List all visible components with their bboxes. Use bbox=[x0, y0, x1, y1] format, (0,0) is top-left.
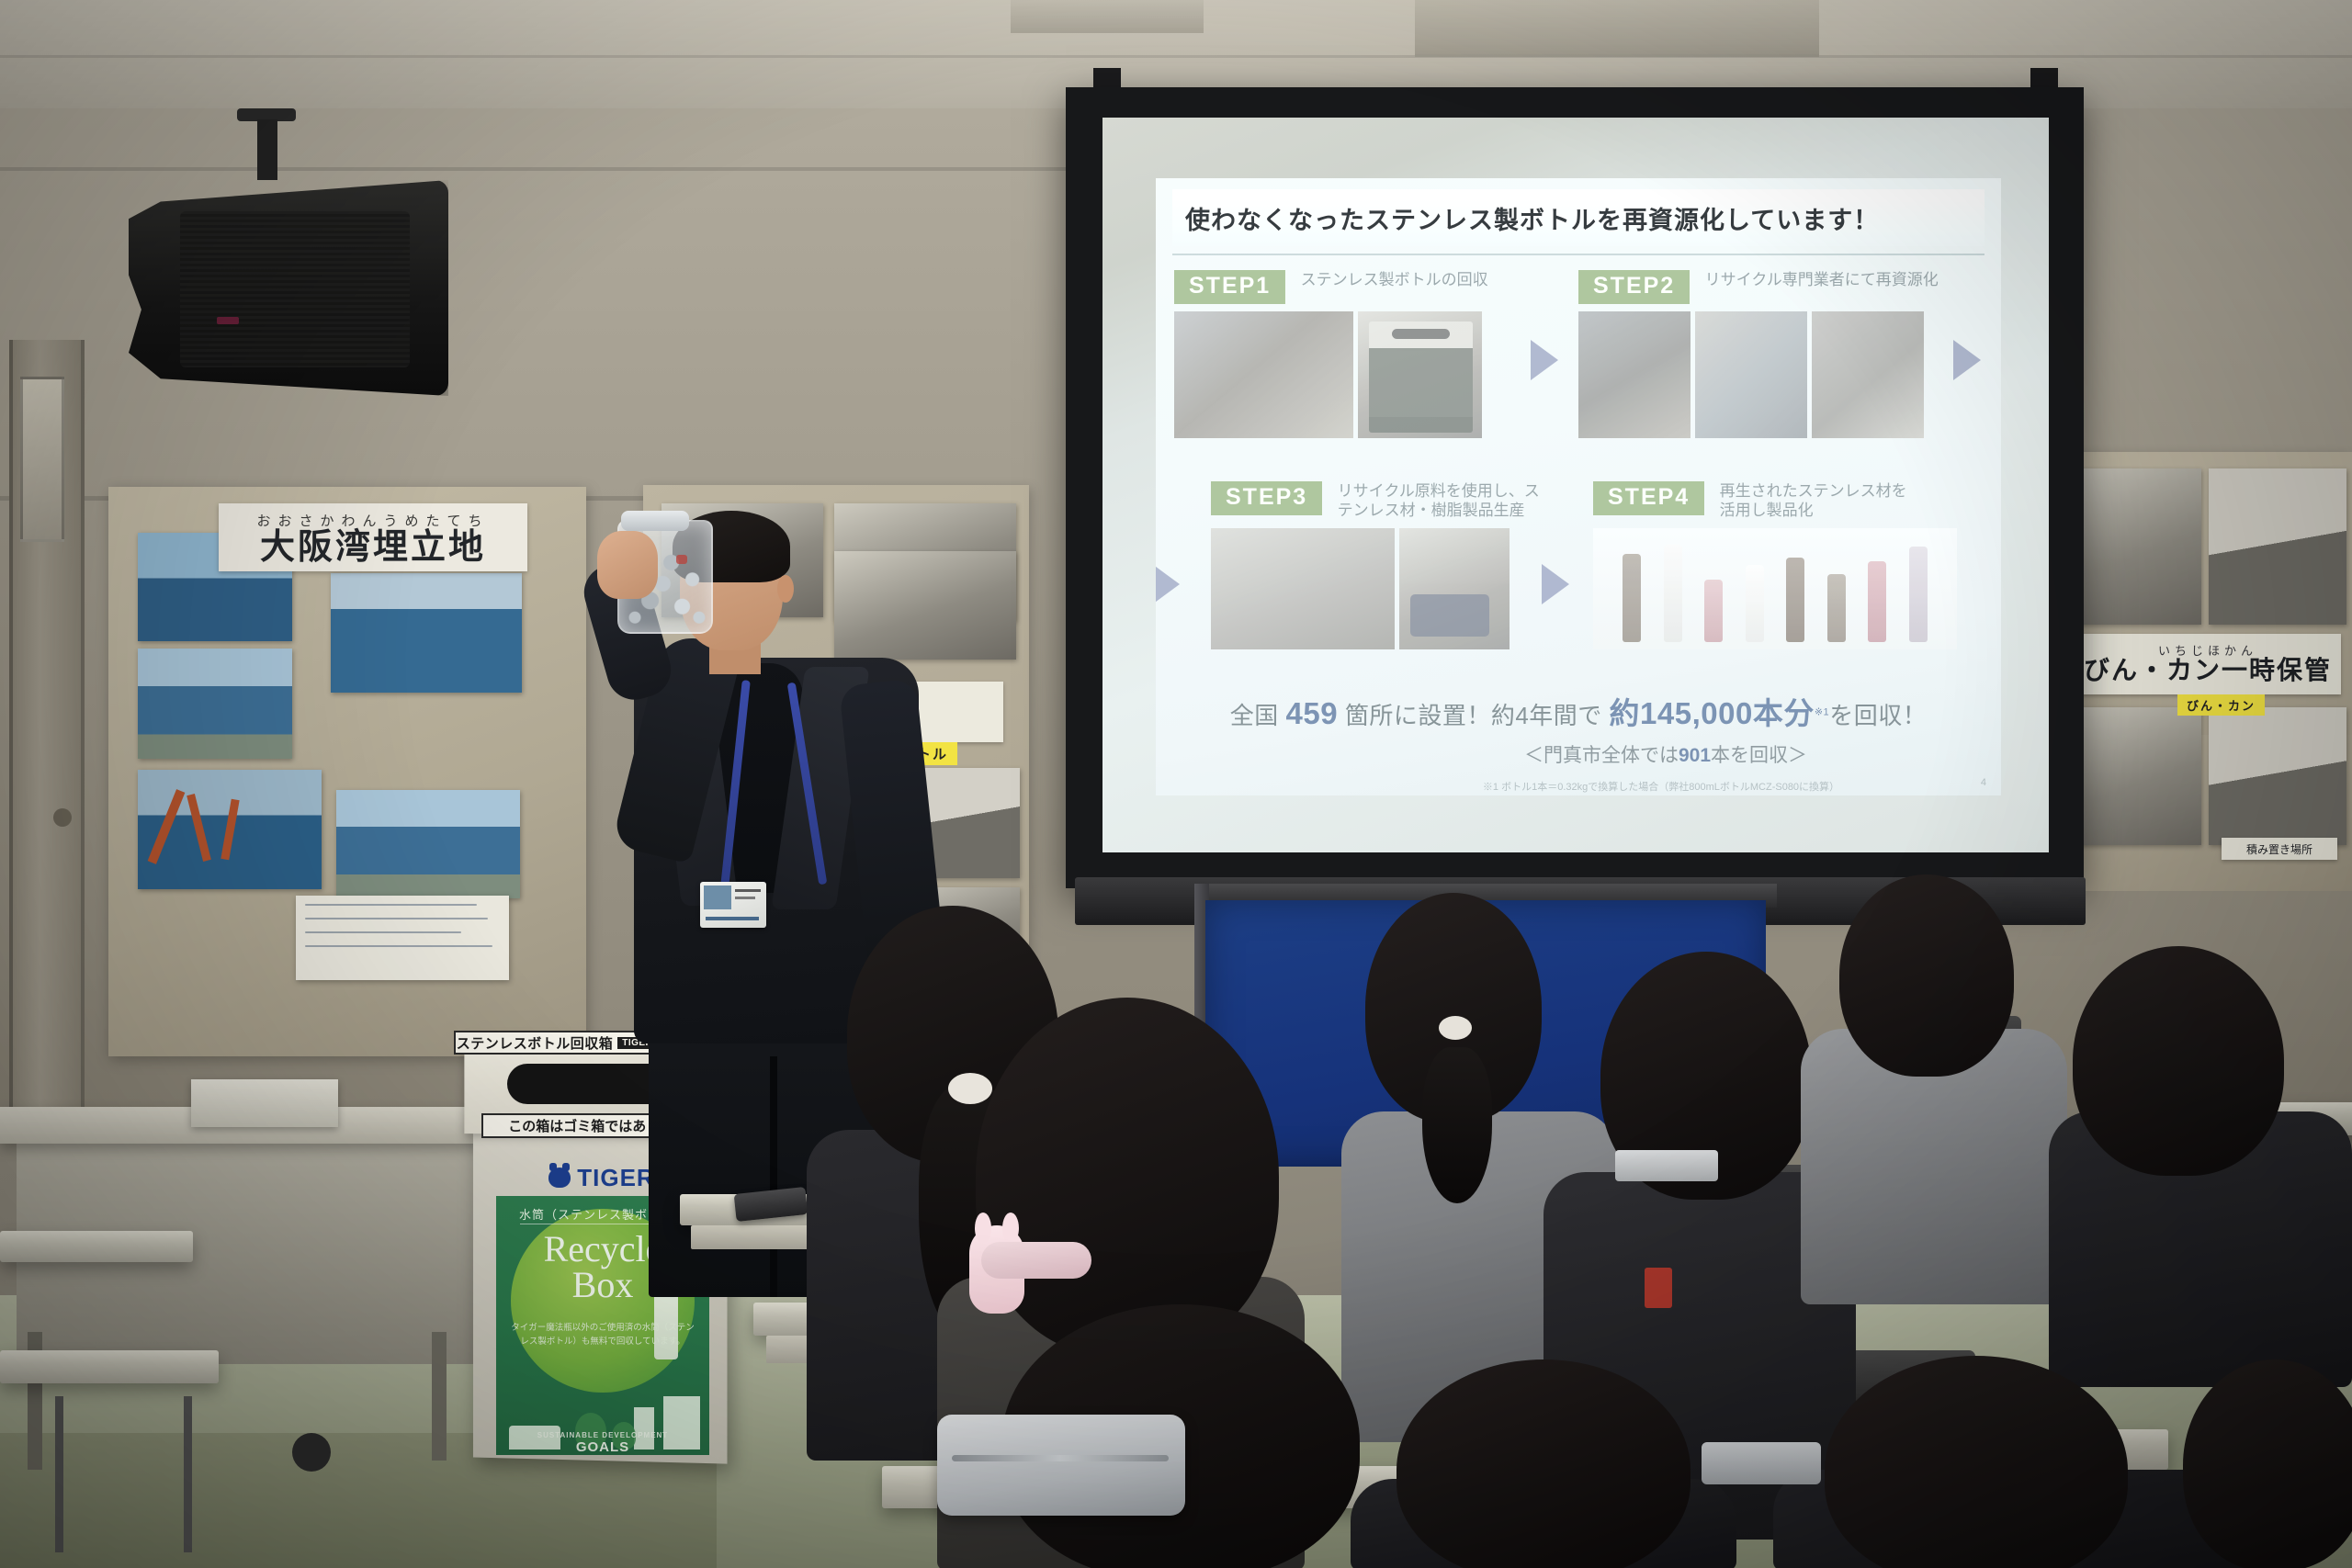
right-photo-truck bbox=[2209, 468, 2346, 625]
step1-badge: STEP1 bbox=[1174, 270, 1285, 304]
plush-ear-left bbox=[975, 1213, 991, 1244]
right-photo-3 bbox=[2209, 707, 2346, 845]
footer-superscript: ※1 bbox=[1815, 706, 1829, 717]
step2-photo-a bbox=[1578, 311, 1690, 438]
poster-main-title: 大阪湾埋立地 bbox=[260, 530, 486, 565]
step1-photos bbox=[1174, 311, 1532, 438]
footer-lead: 全国 bbox=[1230, 702, 1279, 729]
step3-product-block bbox=[1410, 594, 1489, 637]
classroom-scene: おおさかわんうめたてち 大阪湾埋立地 ペットボトル いちじほかん ー時保管 ペッ… bbox=[0, 0, 2352, 1568]
flow-arrow-3 bbox=[1156, 564, 1180, 604]
subline-post: 本を回収＞ bbox=[1711, 745, 1807, 766]
stainless-shred-red-accent bbox=[676, 555, 687, 564]
right-caption-strip: 積み置き場所 bbox=[2222, 838, 2337, 860]
slide-title: 使わなくなったステンレス製ボトルを再資源化しています！ bbox=[1185, 200, 1879, 236]
badge-bottom-bar bbox=[706, 917, 759, 920]
slide-page-number: 4 bbox=[1981, 777, 1986, 788]
speaker-grill bbox=[180, 211, 410, 367]
slide-footer: 全国 459 箇所に設置！約4年間で 約145,000本分※1を回収！ ＜門真市… bbox=[1156, 689, 2001, 794]
bottle-2 bbox=[1664, 545, 1682, 642]
poster-photo-3 bbox=[331, 573, 522, 693]
door-knob[interactable] bbox=[53, 808, 72, 827]
ceiling-vent bbox=[1415, 0, 1819, 57]
flow-arrow-1 bbox=[1531, 340, 1558, 380]
student-6-head bbox=[2073, 946, 2284, 1176]
recycle-box-top-label: ステンレスボトル回収箱 TIGER bbox=[454, 1031, 660, 1055]
side-desk-left-1 bbox=[0, 1231, 193, 1262]
bottle-7 bbox=[1868, 561, 1886, 642]
bottle-8 bbox=[1909, 547, 1928, 642]
step1-photo-a bbox=[1174, 311, 1353, 438]
step2-badge: STEP2 bbox=[1578, 270, 1690, 304]
collection-bin-slot bbox=[1392, 329, 1450, 339]
slide-step-3: STEP3 リサイクル原料を使用し、ステンレス材・樹脂製品生産 bbox=[1211, 481, 1569, 649]
flow-arrow-4 bbox=[1542, 564, 1569, 604]
step3-photo-a bbox=[1211, 528, 1395, 649]
sdgs-goals-text: GOALS bbox=[576, 1439, 629, 1455]
student-3-hair-tie bbox=[1439, 1016, 1472, 1040]
student-4-shirt-graphic bbox=[1645, 1268, 1672, 1308]
badge-text-line-2 bbox=[735, 897, 755, 899]
bottle-6 bbox=[1827, 574, 1846, 642]
laptop-device[interactable] bbox=[1615, 1150, 1718, 1181]
step2-photo-b bbox=[1695, 311, 1807, 438]
right-caption-text: 積み置き場所 bbox=[2246, 841, 2312, 857]
presenter-id-badge bbox=[700, 882, 766, 928]
slide-footnote: ※1 ボトル1本＝0.32kgで換算した場合（弊社800mLボトルMCZ-S08… bbox=[1156, 779, 2001, 794]
student-5-head bbox=[1839, 874, 2014, 1077]
presenter-left-hand bbox=[597, 531, 658, 599]
footer-approx-bottles: 約145,000本分 bbox=[1610, 696, 1815, 730]
presenter-leg-split bbox=[770, 1056, 777, 1297]
step3-badge: STEP3 bbox=[1211, 481, 1322, 515]
right-yellow-tag: びん・カン bbox=[2177, 694, 2265, 716]
step3-photos bbox=[1211, 528, 1569, 649]
step4-photos bbox=[1593, 528, 1988, 649]
step3-caption: リサイクル原料を使用し、ステンレス材・樹脂製品生産 bbox=[1338, 481, 1555, 521]
sample-jar-lid bbox=[621, 511, 689, 531]
subline-number: 901 bbox=[1679, 745, 1711, 766]
right-label-furigana: いちじほかん bbox=[2158, 645, 2257, 657]
door-window bbox=[20, 377, 64, 542]
subline-pre: ＜門真市全体では bbox=[1524, 745, 1679, 766]
chair-leg-1 bbox=[55, 1396, 63, 1552]
poster-note-card bbox=[296, 896, 509, 980]
note-line bbox=[305, 945, 492, 947]
step4-product-photo bbox=[1593, 528, 1957, 649]
step4-caption: 再生されたステンレス材を活用し製品化 bbox=[1720, 481, 1913, 521]
student-10-head bbox=[2183, 1359, 2352, 1568]
speaker-led-indicator bbox=[217, 317, 239, 324]
slide-title-rule bbox=[1172, 254, 1984, 255]
tiger-brand-text: TIGER bbox=[577, 1164, 654, 1192]
note-line bbox=[305, 904, 477, 906]
footer-mid: 箇所に設置！約4年間で bbox=[1345, 702, 1602, 729]
note-line bbox=[305, 918, 488, 919]
flow-arrow-2 bbox=[1953, 340, 1981, 380]
wall-trim-line bbox=[0, 167, 1093, 171]
sdgs-small-text: SUSTAINABLE DEVELOPMENT bbox=[496, 1431, 709, 1439]
phone-device[interactable] bbox=[1702, 1442, 1821, 1484]
footer-tail: を回収！ bbox=[1829, 702, 1927, 729]
right-photo-2 bbox=[2065, 707, 2201, 845]
pencil-case[interactable] bbox=[981, 1242, 1091, 1279]
poster-title-osaka-bay: おおさかわんうめたてち 大阪湾埋立地 bbox=[219, 503, 527, 571]
slide-step-4: STEP4 再生されたステンレス材を活用し製品化 bbox=[1593, 481, 1988, 649]
plush-ear-right bbox=[1002, 1213, 1019, 1244]
teacher-desk-leg-right bbox=[432, 1332, 447, 1461]
desk-box-item[interactable] bbox=[191, 1079, 338, 1127]
step1-caption: ステンレス製ボトルの回収 bbox=[1301, 270, 1488, 289]
recycle-box-panel-body: タイガー魔法瓶以外のご使用済の水筒（ステンレス製ボトル）も無料で回収しています。 bbox=[511, 1321, 695, 1348]
slide-step-1: STEP1 ステンレス製ボトルの回収 bbox=[1174, 270, 1532, 438]
bottle-3 bbox=[1704, 580, 1723, 642]
speaker-mount-pole bbox=[257, 119, 277, 180]
step2-caption: リサイクル専門業者にて再資源化 bbox=[1705, 270, 1939, 289]
student-9-head bbox=[1396, 1359, 1690, 1568]
middle-photo-3 bbox=[834, 551, 1016, 660]
tiger-logo-icon bbox=[548, 1168, 571, 1188]
badge-text-line-1 bbox=[735, 889, 761, 892]
footer-locations-count: 459 bbox=[1286, 696, 1339, 730]
slide-footer-subline: ＜門真市全体では901本を回収＞ bbox=[1156, 740, 2001, 768]
ceiling-seam bbox=[0, 55, 2352, 58]
step2-photos bbox=[1578, 311, 1973, 438]
step3-photo-b bbox=[1399, 528, 1510, 649]
step4-bottle-lineup bbox=[1593, 528, 1957, 649]
badge-photo bbox=[704, 886, 731, 909]
right-photo-1 bbox=[2065, 468, 2201, 625]
student-3-ponytail bbox=[1422, 1047, 1492, 1203]
slide-footer-main: 全国 459 箇所に設置！約4年間で 約145,000本分※1を回収！ bbox=[1156, 689, 2001, 733]
student-bag-zipper[interactable] bbox=[952, 1455, 1169, 1461]
step2-photo-c bbox=[1812, 311, 1924, 438]
step1-photo-b bbox=[1358, 311, 1482, 438]
student-bag[interactable] bbox=[937, 1415, 1185, 1516]
slide-title-box: 使わなくなったステンレス製ボトルを再資源化しています！ bbox=[1172, 189, 1984, 246]
poster-photo-2 bbox=[138, 649, 292, 759]
chair-leg-2 bbox=[184, 1396, 192, 1552]
poster-furigana: おおさかわんうめたてち bbox=[256, 511, 489, 530]
projected-slide: 使わなくなったステンレス製ボトルを再資源化しています！ STEP1 ステンレス製… bbox=[1156, 178, 2001, 795]
student-1-hair-tie bbox=[948, 1073, 992, 1104]
recycle-box-sdgs: SUSTAINABLE DEVELOPMENT GOALS bbox=[496, 1431, 709, 1455]
right-label-strip: いちじほかん びん・カン一時保管 bbox=[2075, 634, 2341, 694]
recycle-box-top-label-text: ステンレスボトル回収箱 bbox=[457, 1033, 614, 1053]
slide-step-2: STEP2 リサイクル専門業者にて再資源化 bbox=[1578, 270, 1973, 438]
side-desk-left-2 bbox=[0, 1350, 219, 1383]
right-label-title: びん・カン一時保管 bbox=[2084, 657, 2332, 683]
poster-photo-5 bbox=[336, 790, 520, 898]
presenter-ear bbox=[777, 575, 794, 603]
desk-caster bbox=[292, 1433, 331, 1472]
collection-bin-illustration bbox=[1369, 321, 1473, 433]
step4-badge: STEP4 bbox=[1593, 481, 1704, 515]
ceiling-vent-secondary bbox=[1011, 0, 1204, 33]
bottle-1 bbox=[1623, 554, 1641, 642]
bottle-5 bbox=[1786, 558, 1804, 642]
bottle-4 bbox=[1746, 565, 1764, 642]
note-line bbox=[305, 931, 461, 933]
